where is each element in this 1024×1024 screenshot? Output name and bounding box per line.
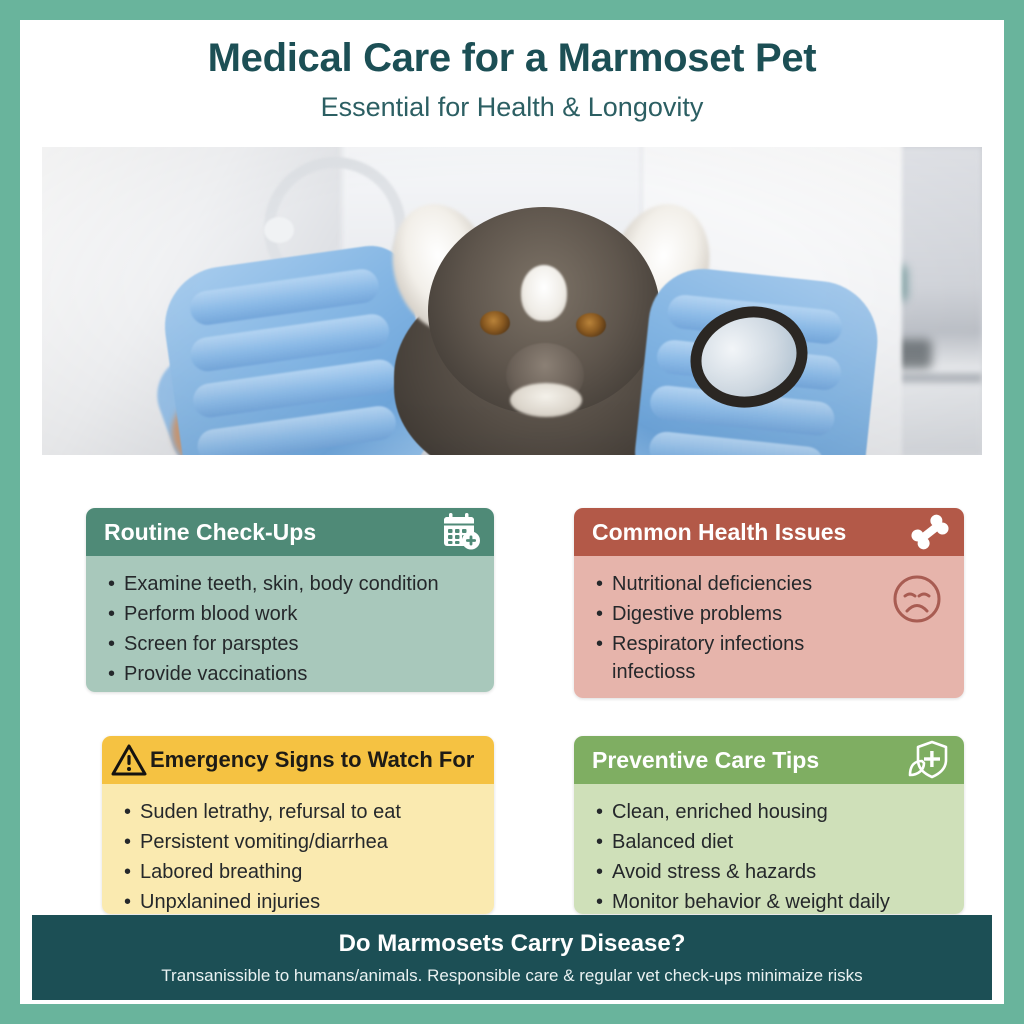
list-item: Respiratory infections infectioss <box>612 630 852 686</box>
list-item: Examine teeth, skin, body condition <box>124 570 478 598</box>
card-header-emergency-signs: Emergency Signs to Watch For <box>102 736 494 784</box>
card-preventive-care-tips: Preventive Care Tips Clean, enriched hou… <box>574 736 964 914</box>
card-header-preventive-care-tips: Preventive Care Tips <box>574 736 964 784</box>
warning-triangle-icon <box>110 743 148 777</box>
list-item: Screen for parsptes <box>124 630 478 658</box>
footer-text: Transanissible to humans/animals. Respon… <box>161 966 862 986</box>
list-item: Suden letrathy, refursal to eat <box>140 798 478 826</box>
list-item: Balanced diet <box>612 828 948 856</box>
emergency-list: Suden letrathy, refursal to eat Persiste… <box>118 798 478 914</box>
list-item: Avoid stress & hazards <box>612 858 948 886</box>
list-item: Unpxlanined injuries <box>140 888 478 914</box>
list-item: Labored breathing <box>140 858 478 886</box>
card-routine-checkups: Routine Check-Ups <box>86 508 494 692</box>
footer-banner: Do Marmosets Carry Disease? Transanissib… <box>32 915 992 1000</box>
card-title: Emergency Signs to Watch For <box>150 747 474 773</box>
list-item: Digestive problems <box>612 600 948 628</box>
checkups-list: Examine teeth, skin, body condition Perf… <box>102 570 478 688</box>
calendar-plus-icon <box>440 512 482 552</box>
bone-icon <box>908 512 952 552</box>
list-item: Perform blood work <box>124 600 478 628</box>
list-item: Provide vaccinations <box>124 660 478 688</box>
photo-vignette <box>42 147 982 455</box>
page-subtitle: Essential for Health & Longovity <box>20 92 1004 123</box>
card-body-preventive-care-tips: Clean, enriched housing Balanced diet Av… <box>574 784 964 914</box>
card-emergency-signs: Emergency Signs to Watch For Suden letra… <box>102 736 494 914</box>
card-title: Common Health Issues <box>592 519 846 546</box>
shield-leaf-icon <box>908 739 952 781</box>
card-body-routine-checkups: Examine teeth, skin, body condition Perf… <box>86 556 494 692</box>
card-header-common-health-issues: Common Health Issues <box>574 508 964 556</box>
card-title: Preventive Care Tips <box>592 747 819 774</box>
preventive-list: Clean, enriched housing Balanced diet Av… <box>590 798 948 914</box>
card-body-emergency-signs: Suden letrathy, refursal to eat Persiste… <box>102 784 494 914</box>
card-common-health-issues: Common Health Issues <box>574 508 964 698</box>
list-item: Monitor behavior & weight daily <box>612 888 948 914</box>
page-title: Medical Care for a Marmoset Pet <box>20 36 1004 81</box>
footer-title: Do Marmosets Carry Disease? <box>339 930 686 958</box>
card-title: Routine Check-Ups <box>104 519 316 546</box>
infographic-frame: Medical Care for a Marmoset Pet Essentia… <box>20 20 1004 1004</box>
list-item: Clean, enriched housing <box>612 798 948 826</box>
card-body-common-health-issues: Nutritional deficiencies Digestive probl… <box>574 556 964 698</box>
hero-photo <box>42 147 982 455</box>
card-header-routine-checkups: Routine Check-Ups <box>86 508 494 556</box>
list-item: Persistent vomiting/diarrhea <box>140 828 478 856</box>
list-item: Nutritional deficiencies <box>612 570 948 598</box>
